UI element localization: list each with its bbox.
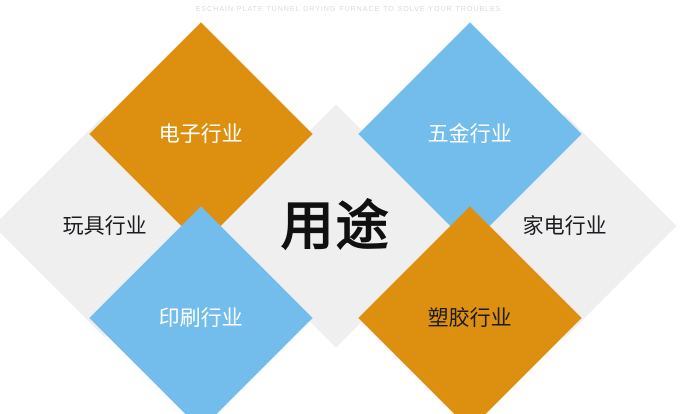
diamond-label-hardware-industry: 五金行业 [428, 124, 512, 145]
diamond-label-toy-industry: 玩具行业 [63, 216, 147, 237]
use-cases-infographic: ESCHAIN PLATE TUNNEL DRYING FURNACE TO S… [0, 0, 697, 414]
diamond-label-printing-industry: 印刷行业 [159, 308, 243, 329]
diamond-label-center-purpose: 用途 [281, 200, 391, 253]
diamond-label-home-appliance-industry: 家电行业 [523, 216, 607, 237]
diamond-label-electronics-industry: 电子行业 [159, 124, 243, 145]
diamond-label-plastic-industry: 塑胶行业 [428, 308, 512, 329]
diamond-cluster: 玩具行业 家电行业 用途 电子行业 印刷行业 五金行业 塑胶行业 [0, 0, 697, 414]
